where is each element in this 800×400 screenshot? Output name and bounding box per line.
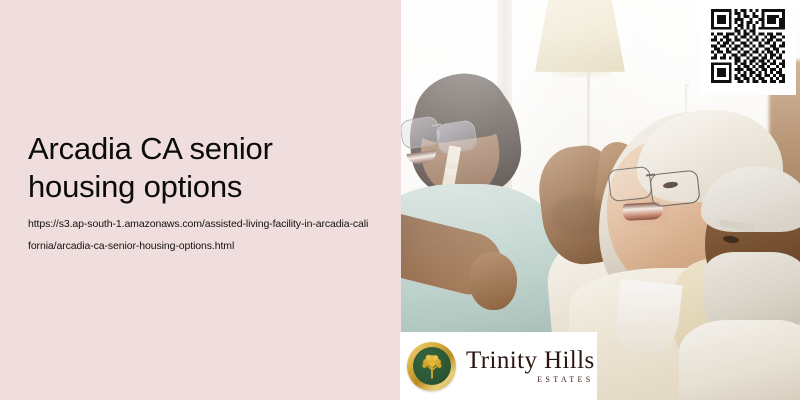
lamp-shade xyxy=(535,0,625,72)
brand-subtitle: ESTATES xyxy=(537,375,594,385)
page-title: Arcadia CA senior housing options xyxy=(28,130,373,206)
qr-code-matrix xyxy=(711,9,785,83)
brand-logo-text: Trinity Hills ESTATES xyxy=(466,348,595,385)
page-url[interactable]: https://s3.ap-south-1.amazonaws.com/assi… xyxy=(28,213,370,257)
lamp-glow xyxy=(551,64,611,78)
text-panel: Arcadia CA senior housing options https:… xyxy=(0,0,401,400)
person-right-torso xyxy=(679,320,800,400)
person-left-hand xyxy=(469,252,517,310)
promo-card: Arcadia CA senior housing options https:… xyxy=(0,0,800,400)
person-center-glasses-right-lens xyxy=(649,170,700,208)
tree-emblem-inner xyxy=(413,347,451,385)
person-center-glasses-left-lens xyxy=(607,166,652,202)
brand-name: Trinity Hills xyxy=(466,348,595,374)
qr-code[interactable] xyxy=(699,0,796,95)
tree-icon xyxy=(417,351,447,381)
brand-logo[interactable]: Trinity Hills ESTATES xyxy=(400,332,597,400)
tree-emblem-icon xyxy=(407,342,456,391)
